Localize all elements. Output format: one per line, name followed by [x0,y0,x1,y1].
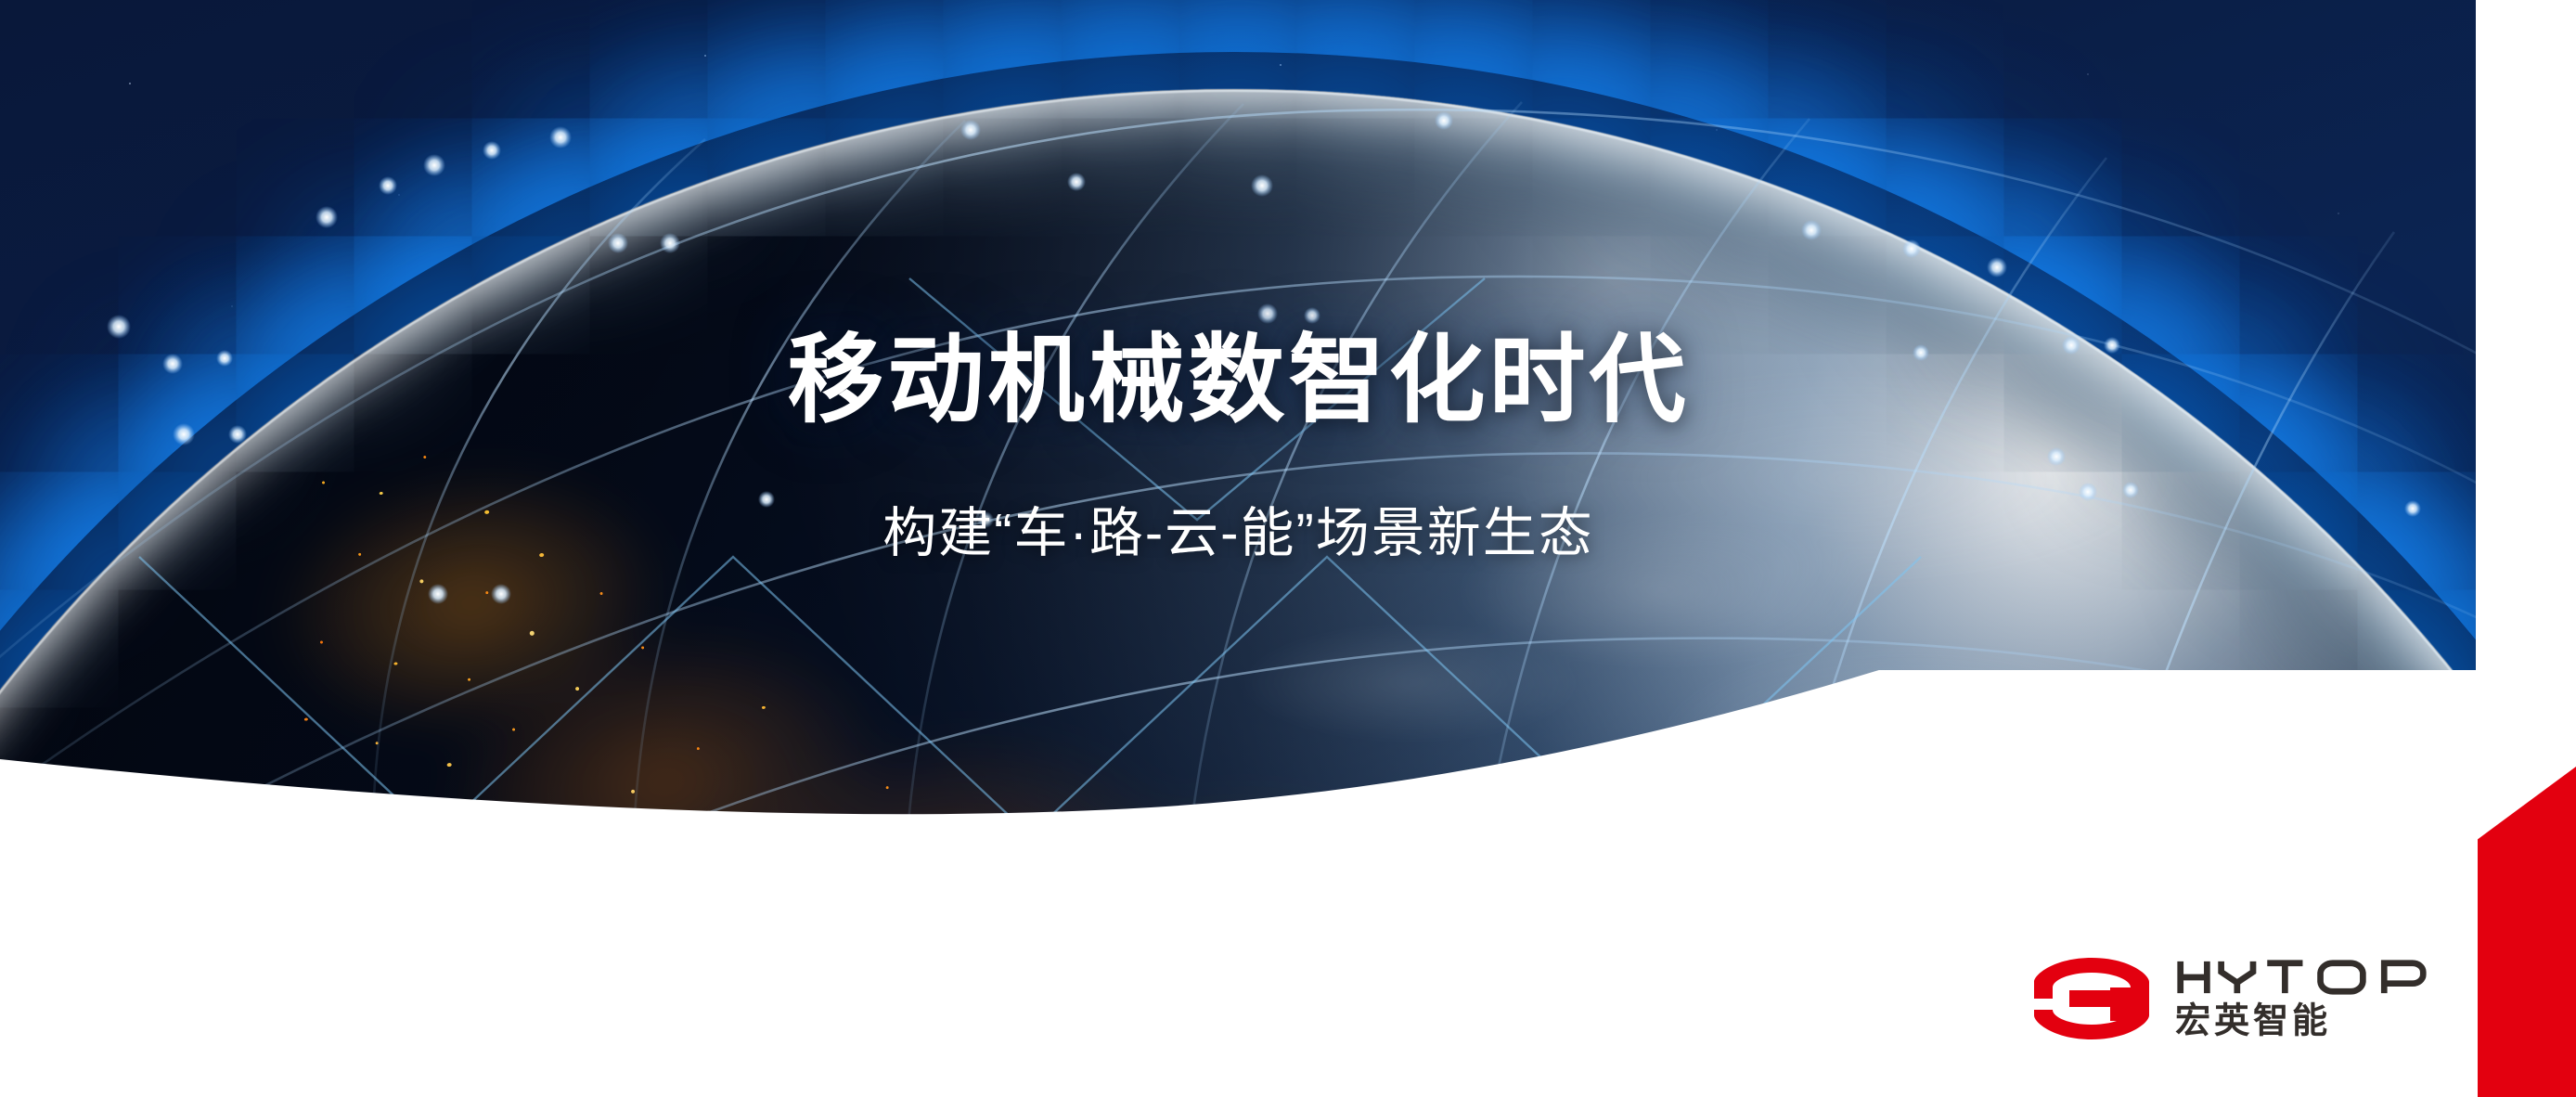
logo-wordmark-cn: 宏英智能 [2175,1000,2441,1039]
right-white-strip [2476,0,2576,1097]
hero-background-image [0,0,2477,1097]
red-accent-bar [2478,767,2576,1097]
hytop-g-mark-icon [2032,954,2151,1043]
logo-wordmark-hytop [2175,958,2441,997]
logo-text-lockup: 宏英智能 [2175,958,2441,1039]
title-slide: 移动机械数智化时代 构建“车·路-云-能”场景新生态 [0,0,2576,1097]
logo-cn-text: 宏英智能 [2175,1000,2331,1039]
brand-logo: 宏英智能 [2032,954,2441,1043]
